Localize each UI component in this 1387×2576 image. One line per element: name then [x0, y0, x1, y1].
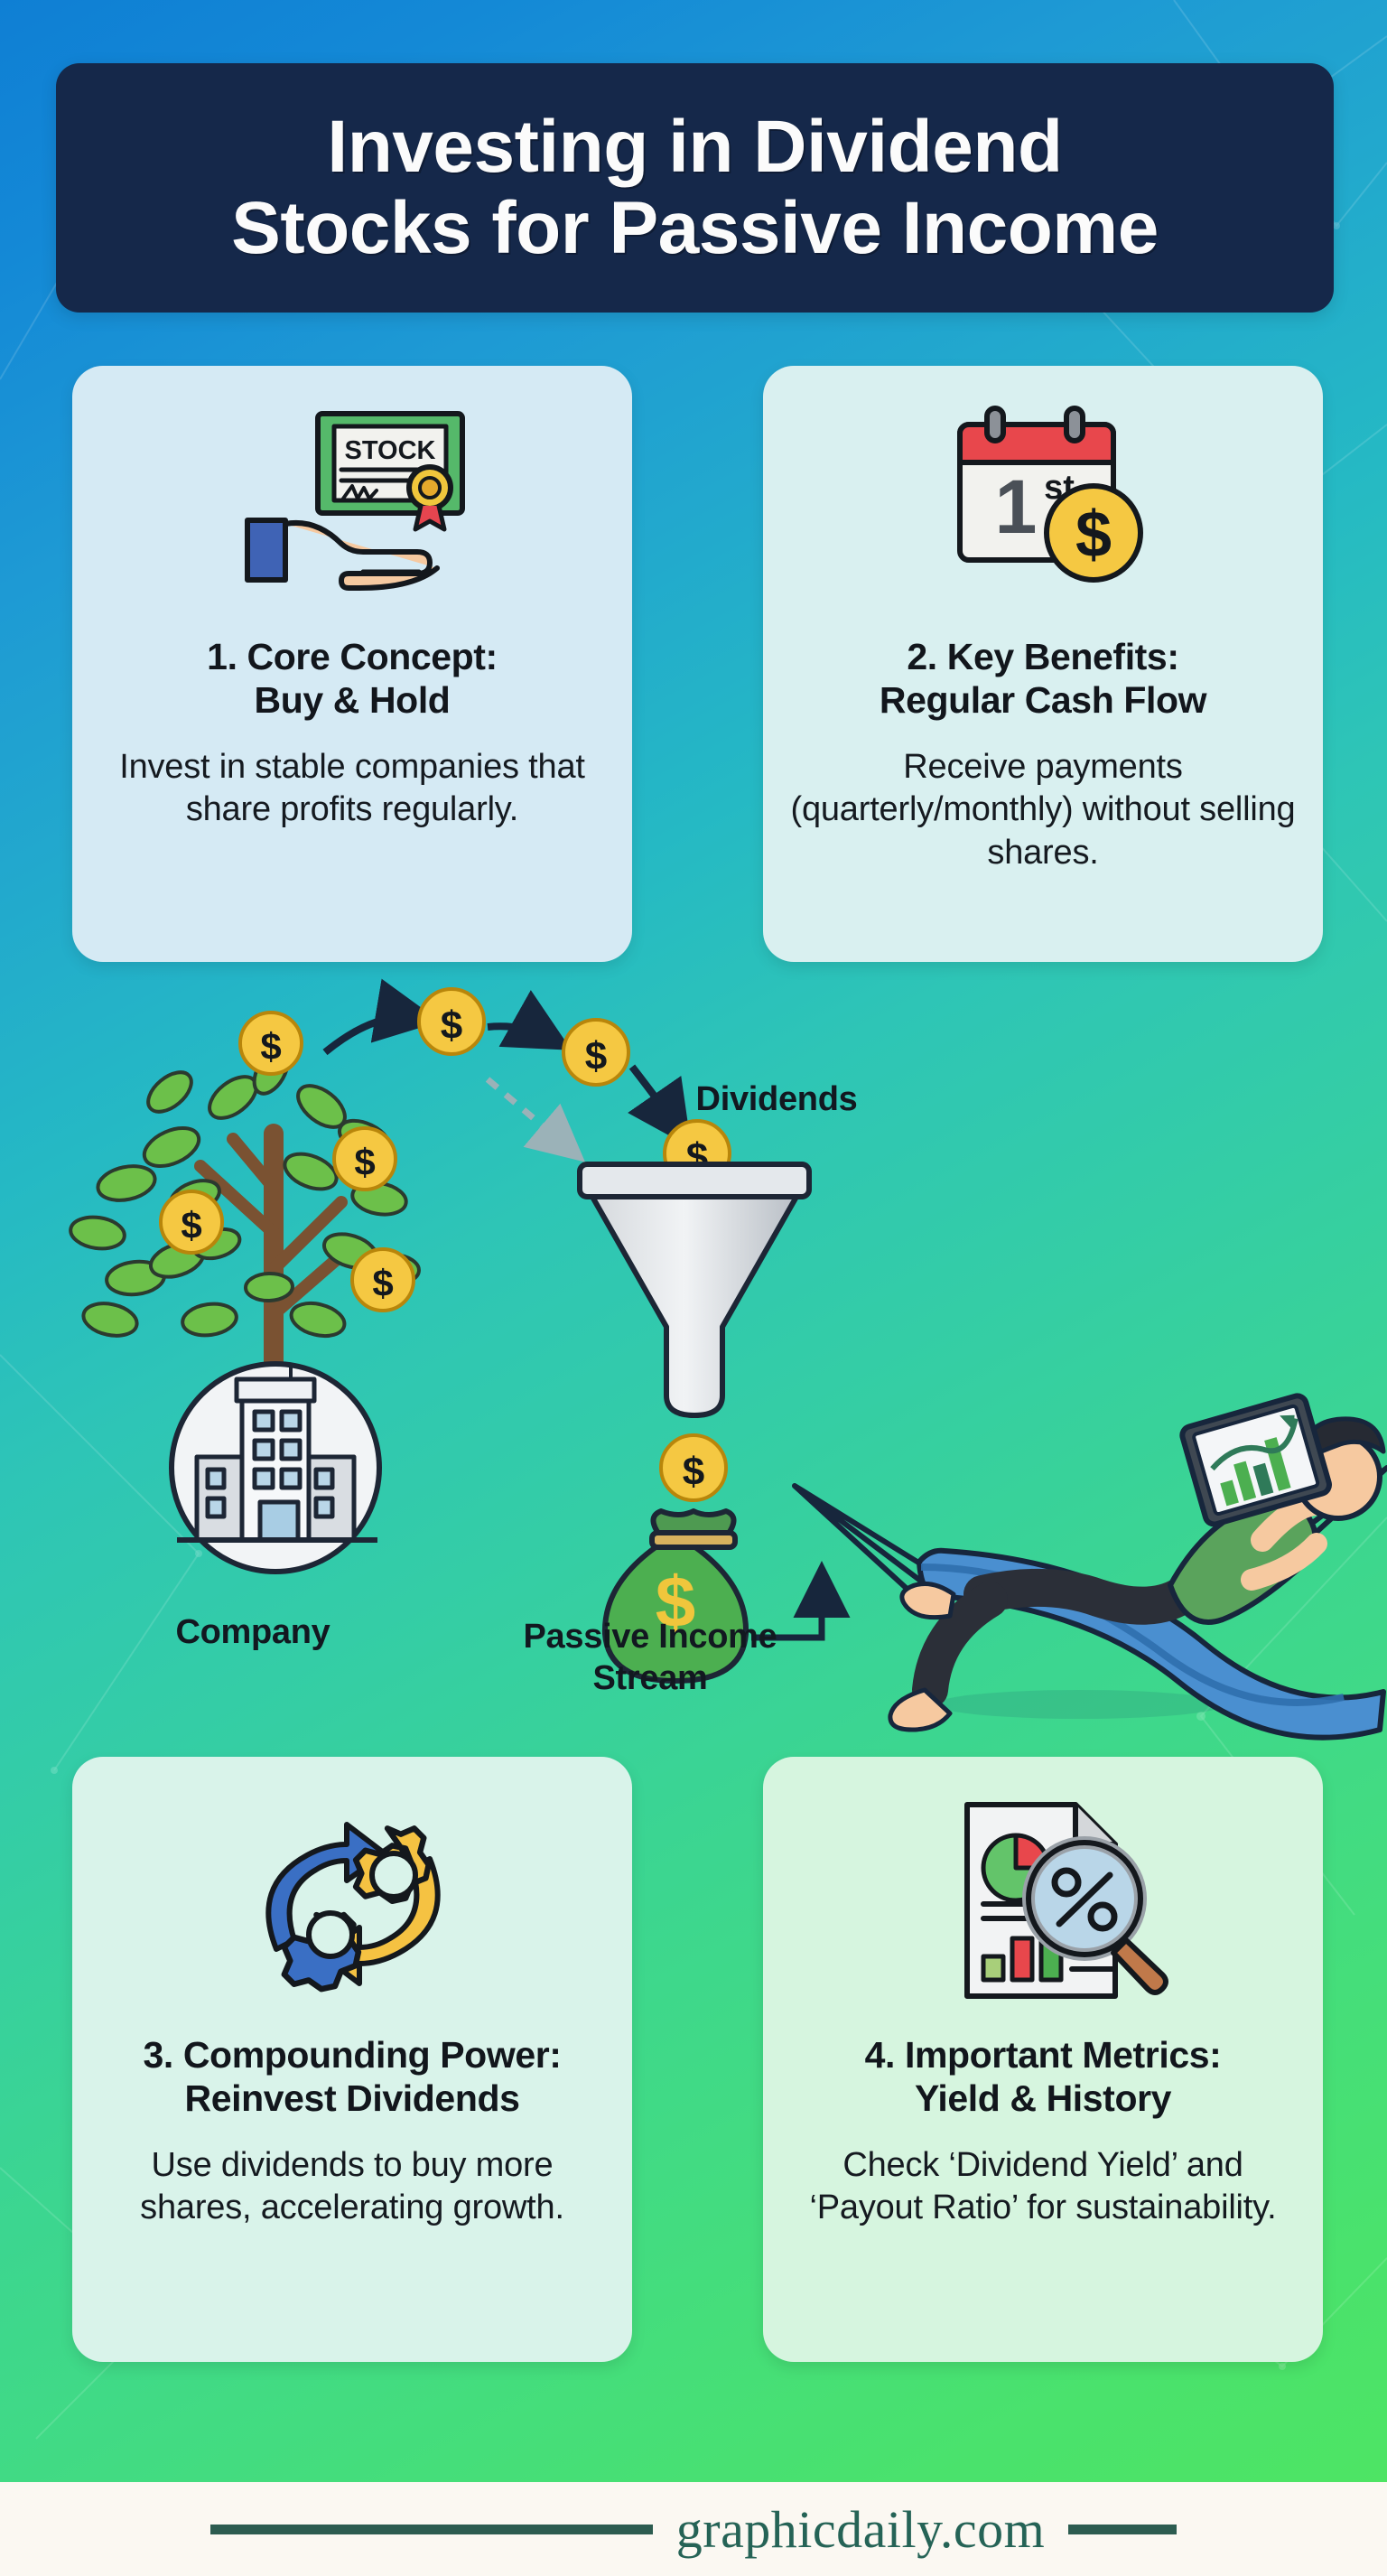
- coin-below-funnel: $: [661, 1435, 726, 1500]
- card-title: 1. Core Concept: Buy & Hold: [207, 635, 498, 723]
- company-building-icon: [172, 1363, 379, 1572]
- money-tree-icon: $ $ $ $: [69, 1013, 420, 1386]
- svg-text:$: $: [1075, 499, 1112, 571]
- svg-text:$: $: [683, 1450, 704, 1494]
- svg-text:STOCK: STOCK: [345, 436, 436, 465]
- label-passive-income-stream: Passive Income Stream: [451, 1617, 849, 1699]
- info-card-important-metrics[interactable]: 4. Important Metrics: Yield & History Ch…: [763, 1757, 1323, 2362]
- footer-rule-right: [1068, 2525, 1177, 2534]
- card-title-line-2: Yield & History: [915, 2077, 1171, 2119]
- card-title-line-1: 4. Important Metrics:: [865, 2034, 1222, 2076]
- title-line-1: Investing in Dividend: [327, 106, 1062, 188]
- page-title: Investing in Dividend Stocks for Passive…: [215, 107, 1175, 269]
- footer-band: graphicdaily.com: [0, 2482, 1387, 2576]
- svg-text:$: $: [181, 1204, 201, 1246]
- card-title: 2. Key Benefits: Regular Cash Flow: [880, 635, 1206, 723]
- report-with-magnifier-percent-icon: [908, 1784, 1178, 2019]
- stock-certificate-in-hand-icon: STOCK: [217, 393, 488, 628]
- card-title-line-1: 1. Core Concept:: [207, 636, 498, 677]
- info-card-compounding-power[interactable]: 3. Compounding Power: Reinvest Dividends…: [72, 1757, 632, 2362]
- info-card-core-concept[interactable]: STOCK 1. Core Concept: Buy & Hold Invest…: [72, 366, 632, 962]
- svg-text:$: $: [260, 1025, 281, 1068]
- passive-label-line-2: Stream: [592, 1659, 707, 1697]
- label-dividends: Dividends: [650, 1079, 903, 1121]
- svg-text:$: $: [372, 1262, 393, 1304]
- title-line-2: Stocks for Passive Income: [231, 187, 1159, 269]
- footer-rule-left: [210, 2525, 653, 2534]
- footer-site-name[interactable]: graphicdaily.com: [676, 2499, 1045, 2560]
- info-card-key-benefits[interactable]: 1 st $ 2. Key Benefits: Regular Cash Flo…: [763, 366, 1323, 962]
- card-title: 4. Important Metrics: Yield & History: [865, 2033, 1222, 2121]
- svg-text:$: $: [354, 1141, 375, 1183]
- card-title-line-1: 3. Compounding Power:: [143, 2034, 561, 2076]
- card-body: Invest in stable companies that share pr…: [96, 746, 609, 832]
- card-title: 3. Compounding Power: Reinvest Dividends: [143, 2033, 561, 2121]
- label-company: Company: [72, 1612, 433, 1654]
- card-body: Receive payments (quarterly/monthly) wit…: [787, 746, 1299, 875]
- title-banner: Investing in Dividend Stocks for Passive…: [56, 63, 1334, 313]
- card-title-line-2: Reinvest Dividends: [184, 2077, 519, 2119]
- gears-recycle-arrows-icon: [217, 1784, 488, 2019]
- svg-text:$: $: [585, 1034, 607, 1078]
- card-title-line-2: Regular Cash Flow: [880, 679, 1206, 721]
- svg-text:$: $: [441, 1003, 462, 1048]
- person-in-hammock-with-tablet-icon: [795, 1394, 1387, 1738]
- card-body: Use dividends to buy more shares, accele…: [96, 2144, 609, 2230]
- svg-text:1: 1: [995, 464, 1038, 549]
- funnel-icon: [580, 1164, 809, 1415]
- passive-label-line-1: Passive Income: [524, 1618, 777, 1656]
- calendar-with-coin-icon: 1 st $: [908, 393, 1178, 628]
- card-title-line-1: 2. Key Benefits:: [907, 636, 1178, 677]
- card-body: Check ‘Dividend Yield’ and ‘Payout Ratio…: [787, 2144, 1299, 2230]
- card-title-line-2: Buy & Hold: [255, 679, 451, 721]
